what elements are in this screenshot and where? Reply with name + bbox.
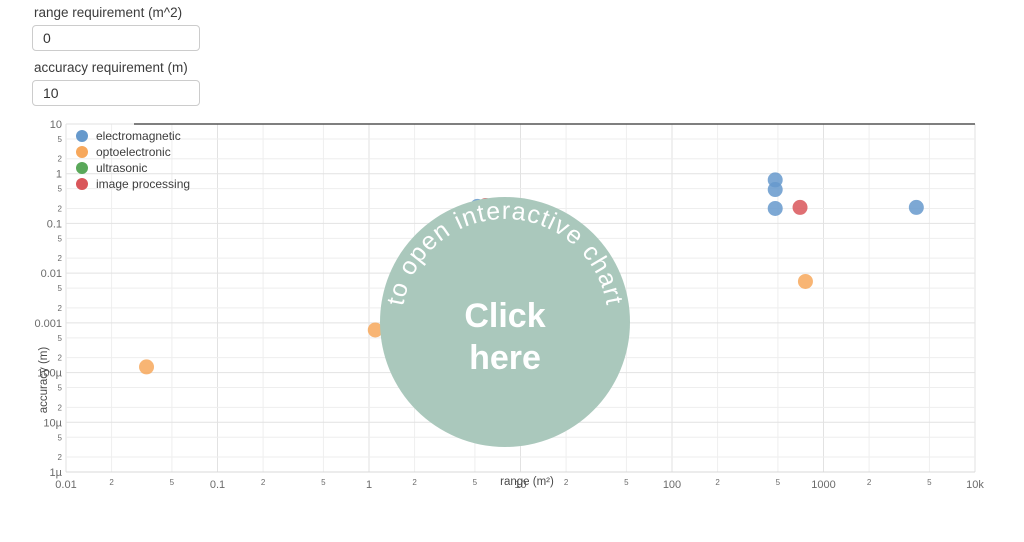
x-tick-label-minor: 2 bbox=[867, 478, 872, 487]
legend-swatch-icon bbox=[76, 130, 88, 142]
range-requirement-input[interactable] bbox=[32, 25, 200, 51]
y-tick-label: 1µ bbox=[50, 467, 63, 479]
accuracy-requirement-input[interactable] bbox=[32, 80, 200, 106]
overlay-svg: to open interactive chart Click here bbox=[380, 197, 630, 447]
y-tick-label-minor: 5 bbox=[58, 135, 63, 144]
x-tick-label: 10k bbox=[966, 479, 984, 491]
x-tick-label: 0.1 bbox=[210, 479, 225, 491]
x-tick-label: 0.01 bbox=[55, 479, 76, 491]
x-tick-label: 1000 bbox=[811, 479, 835, 491]
x-tick-label-minor: 5 bbox=[473, 478, 478, 487]
overlay-click-line2: here bbox=[469, 339, 541, 377]
x-axis-label: range (m²) bbox=[500, 476, 554, 488]
y-tick-label-minor: 2 bbox=[58, 204, 63, 213]
x-tick-label-minor: 5 bbox=[624, 478, 629, 487]
data-point[interactable] bbox=[768, 182, 783, 197]
x-tick-label-minor: 2 bbox=[261, 478, 266, 487]
y-tick-label-minor: 2 bbox=[58, 354, 63, 363]
y-tick-label: 10 bbox=[50, 119, 62, 131]
legend-label: image processing bbox=[96, 177, 190, 191]
x-tick-label: 100 bbox=[663, 479, 681, 491]
legend-item-image-processing[interactable]: image processing bbox=[76, 176, 276, 192]
y-tick-label-minor: 5 bbox=[58, 433, 63, 442]
legend-item-electromagnetic[interactable]: electromagnetic bbox=[76, 128, 276, 144]
data-point[interactable] bbox=[798, 274, 813, 289]
y-tick-label: 10µ bbox=[43, 417, 62, 429]
y-tick-label-minor: 2 bbox=[58, 453, 63, 462]
legend-swatch-icon bbox=[76, 146, 88, 158]
legend-label: optoelectronic bbox=[96, 145, 171, 159]
overlay-click-line1: Click bbox=[464, 297, 545, 335]
x-tick-label-minor: 5 bbox=[776, 478, 781, 487]
legend-item-ultrasonic[interactable]: ultrasonic bbox=[76, 160, 276, 176]
x-tick-label-minor: 2 bbox=[412, 478, 417, 487]
x-tick-label-minor: 2 bbox=[564, 478, 569, 487]
y-tick-label-minor: 5 bbox=[58, 384, 63, 393]
y-tick-label-minor: 5 bbox=[58, 334, 63, 343]
data-point[interactable] bbox=[909, 200, 924, 215]
y-tick-label: 0.1 bbox=[47, 218, 62, 230]
range-requirement-label: range requirement (m^2) bbox=[34, 4, 200, 22]
data-point[interactable] bbox=[768, 201, 783, 216]
data-point[interactable] bbox=[793, 200, 808, 215]
y-tick-label: 0.001 bbox=[34, 318, 62, 330]
y-tick-label-minor: 5 bbox=[58, 284, 63, 293]
open-interactive-chart-overlay[interactable]: to open interactive chart Click here bbox=[380, 197, 630, 447]
y-tick-label-minor: 2 bbox=[58, 155, 63, 164]
x-tick-label-minor: 5 bbox=[170, 478, 175, 487]
x-tick-label: 1 bbox=[366, 479, 372, 491]
y-axis-label: accuracy (m) bbox=[38, 347, 50, 414]
x-tick-label-minor: 2 bbox=[715, 478, 720, 487]
y-tick-label: 1 bbox=[56, 169, 62, 181]
y-tick-label-minor: 5 bbox=[58, 234, 63, 243]
chart-legend: electromagnetic optoelectronic ultrasoni… bbox=[76, 128, 276, 192]
legend-swatch-icon bbox=[76, 178, 88, 190]
legend-item-optoelectronic[interactable]: optoelectronic bbox=[76, 144, 276, 160]
y-axis-ticks: 1µ2510µ25100µ250.001250.01250.12512510 bbox=[34, 119, 62, 479]
y-tick-label: 0.01 bbox=[41, 268, 62, 280]
legend-label: electromagnetic bbox=[96, 129, 181, 143]
x-tick-label-minor: 2 bbox=[109, 478, 114, 487]
y-tick-label-minor: 2 bbox=[58, 304, 63, 313]
requirements-form: range requirement (m^2) accuracy require… bbox=[32, 4, 200, 114]
legend-label: ultrasonic bbox=[96, 161, 147, 175]
data-point[interactable] bbox=[139, 359, 154, 374]
y-tick-label-minor: 2 bbox=[58, 254, 63, 263]
y-tick-label-minor: 2 bbox=[58, 403, 63, 412]
x-tick-label-minor: 5 bbox=[927, 478, 932, 487]
y-tick-label-minor: 5 bbox=[58, 185, 63, 194]
legend-swatch-icon bbox=[76, 162, 88, 174]
accuracy-requirement-label: accuracy requirement (m) bbox=[34, 59, 200, 77]
x-tick-label-minor: 5 bbox=[321, 478, 326, 487]
